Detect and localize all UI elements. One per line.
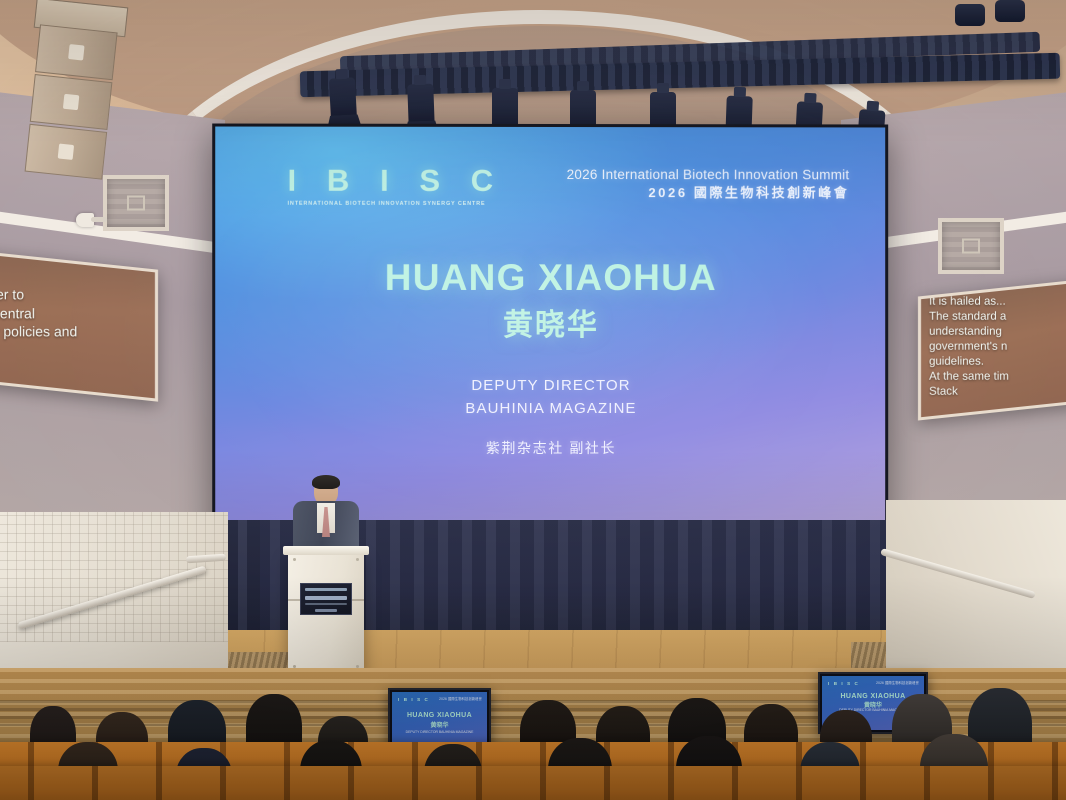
monitor-logo: I B I S C (398, 697, 429, 702)
monitor-speaker-name: HUANG XIAOHUA (392, 712, 487, 719)
stage-light-icon (407, 84, 435, 129)
podium-top-surface (283, 546, 369, 555)
ibisc-logo: I B I S C INTERNATIONAL BIOTECH INNOVATI… (288, 165, 505, 207)
podium (288, 553, 364, 673)
wall-vent-right (938, 218, 1004, 274)
speaker-cabinet (35, 24, 118, 80)
plate-text-line (305, 588, 347, 591)
plate-text-line (305, 603, 347, 605)
speaker-role-chinese: 紫荆杂志社 副社长 (215, 438, 885, 459)
speaker-name-english: HUANG XIAOHUA (215, 259, 885, 298)
stage-light-icon (995, 0, 1025, 22)
speaker-cabinet (30, 74, 113, 130)
speaker-role-title: DEPUTY DIRECTOR (215, 374, 885, 397)
summit-title-chinese: 2026 國際生物科技創新峰會 (567, 185, 850, 202)
audience-seat-row (0, 766, 1066, 800)
logo-tagline: INTERNATIONAL BIOTECH INNOVATION SYNERGY… (288, 201, 505, 207)
caption-panel-right: It is hailed as... The standard a unders… (918, 275, 1066, 420)
presenter-person (289, 477, 363, 557)
plate-text-line (315, 609, 337, 612)
caption-panel-left: as... rd answer to ing the central t's m… (0, 246, 158, 401)
logo-wordmark: I B I S C (288, 165, 505, 196)
wall-camera-icon (76, 213, 94, 227)
speaker-cabinet (25, 124, 108, 180)
presenter-hair (312, 475, 340, 489)
speaker-organization: BAUHINIA MAGAZINE (215, 397, 885, 421)
conference-hall-photo: I B I S C INTERNATIONAL BIOTECH INNOVATI… (0, 0, 1066, 800)
speaker-name-chinese: 黄晓华 (215, 300, 885, 344)
monitor-speaker-name-zh: 黄晓华 (392, 720, 487, 729)
monitor-logo: I B I S C (828, 681, 859, 686)
slide-header: 2026 International Biotech Innovation Su… (567, 167, 850, 202)
plate-text-line (305, 596, 347, 600)
podium-signage-plate (300, 583, 352, 615)
podium-screw (293, 558, 296, 561)
speaker-role-block: DEPUTY DIRECTOR BAUHINIA MAGAZINE (215, 374, 885, 421)
stage-light-icon (329, 77, 357, 122)
caption-text-right: It is hailed as... The standard a unders… (929, 295, 1066, 400)
monitor-header: 2026 國際生物科技創新峰會 (876, 681, 919, 685)
monitor-role: DEPUTY DIRECTOR BAUHINIA MAGAZINE (392, 730, 487, 735)
speaker-info-block: HUANG XIAOHUA 黄晓华 DEPUTY DIRECTOR BAUHIN… (215, 259, 885, 459)
line-array-speaker-left (24, 24, 117, 181)
monitor-header: 2026 國際生物科技創新峰會 (439, 697, 482, 701)
wall-vent-left (103, 175, 169, 231)
stage-light-icon (955, 4, 985, 26)
caption-text-left: as... rd answer to ing the central t's m… (0, 267, 153, 378)
summit-title-english: 2026 International Biotech Innovation Su… (567, 167, 850, 184)
podium-screw (356, 558, 359, 561)
